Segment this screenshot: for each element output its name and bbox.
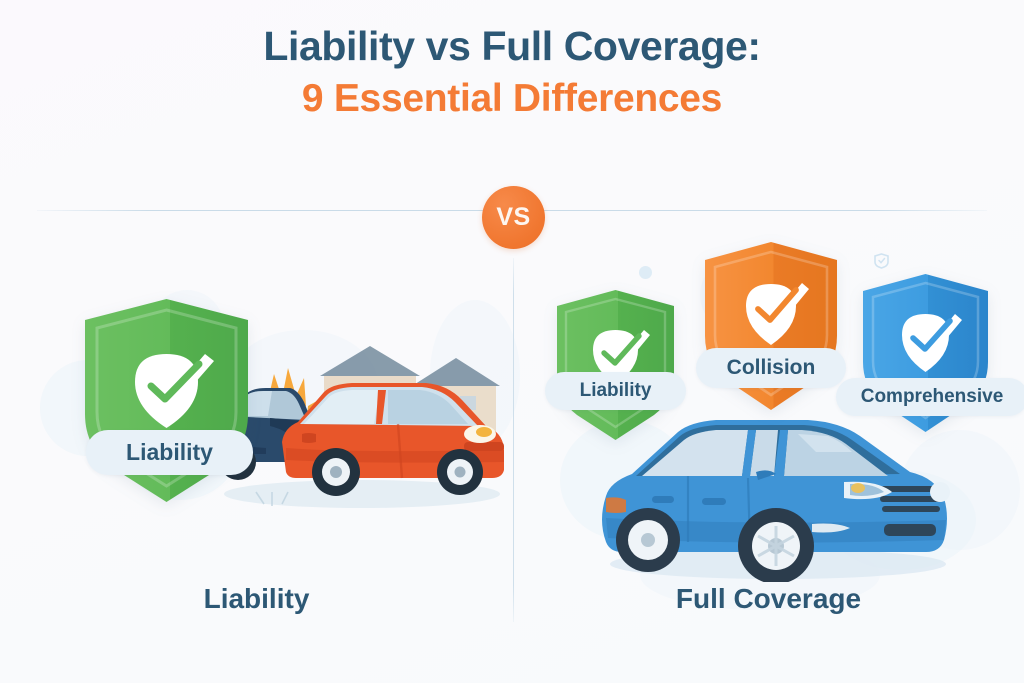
page-title: Liability vs Full Coverage: [0, 22, 1024, 70]
two-car-collision-illustration [212, 322, 512, 514]
shield-label-text: Collision [727, 356, 816, 380]
vertical-divider [513, 258, 514, 622]
infographic-canvas: Liability vs Full Coverage: 9 Essential … [0, 0, 1024, 683]
shield-label-pill-comprehensive: Comprehensive [836, 378, 1024, 416]
versus-badge: VS [482, 186, 545, 249]
page-subtitle: 9 Essential Differences [0, 76, 1024, 123]
footer-label-full-coverage: Full Coverage [513, 583, 1024, 615]
shield-check-icon [552, 288, 679, 442]
shield-label-pill-liability-left: Liability [86, 430, 253, 475]
page-title-block: Liability vs Full Coverage: 9 Essential … [0, 22, 1024, 123]
shield-label-text: Comprehensive [861, 386, 1004, 408]
decorative-dot [639, 266, 652, 279]
versus-badge-label: VS [496, 203, 530, 232]
shield-label-text: Liability [580, 380, 652, 402]
shield-outline-icon [874, 253, 889, 269]
footer-label-liability: Liability [0, 583, 513, 615]
shield-label-text: Liability [126, 439, 213, 466]
shield-liability-right [552, 288, 679, 442]
shield-label-pill-liability-right: Liability [545, 372, 686, 410]
shield-label-pill-collision: Collision [696, 348, 846, 388]
